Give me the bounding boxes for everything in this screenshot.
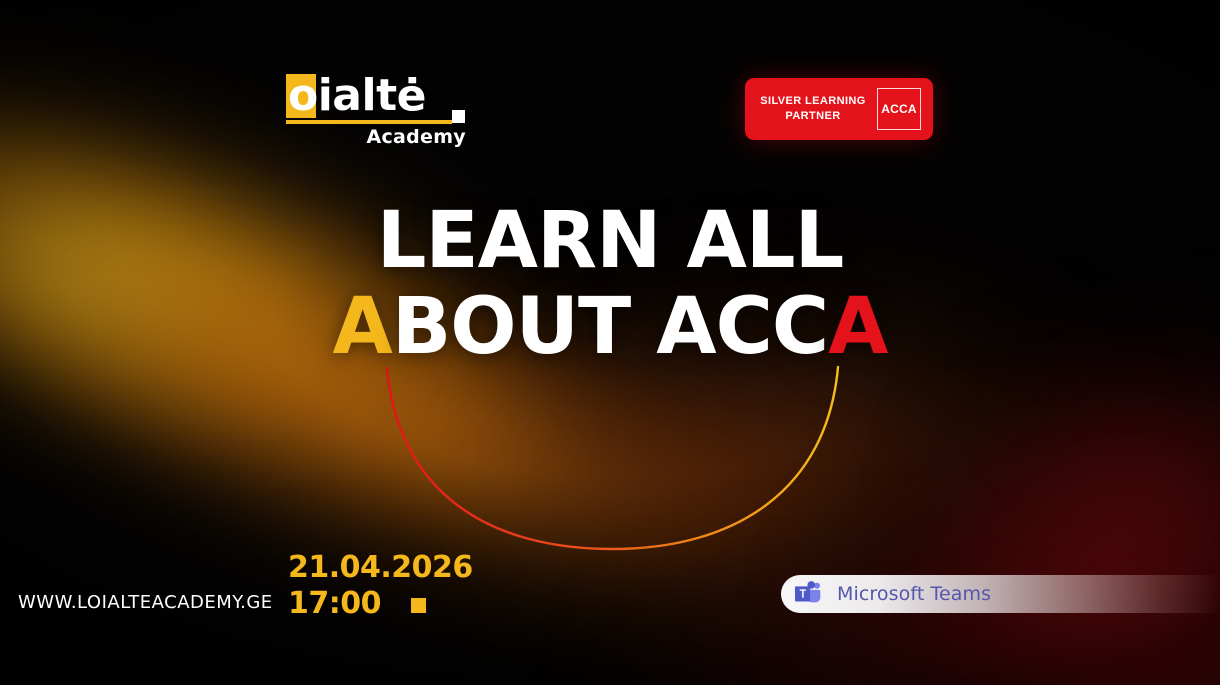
headline-gold-a: A [332, 282, 391, 372]
platform-badge-microsoft-teams[interactable]: Microsoft Teams [781, 575, 1220, 613]
logo-square-dot-icon [452, 110, 465, 123]
logo-subtitle: Academy [366, 126, 466, 148]
logo-wordmark: oialtė [286, 74, 466, 120]
headline: LEARN ALL ABOUT ACCA [0, 198, 1220, 370]
event-schedule: 21.04.2026 17:00 [288, 550, 473, 622]
brand-logo[interactable]: oialtė Academy [286, 74, 466, 144]
website-url[interactable]: WWW.LOIALTEACADEMY.GE [18, 592, 273, 613]
acca-mark: ACCA [877, 88, 921, 130]
badge-text-block: SILVER LEARNING PARTNER [745, 94, 877, 124]
acca-partner-badge[interactable]: SILVER LEARNING PARTNER ACCA [745, 78, 933, 140]
headline-line-2: ABOUT ACCA [0, 284, 1220, 370]
badge-line-2: PARTNER [785, 110, 840, 122]
event-time: 17:00 [288, 586, 473, 622]
microsoft-teams-icon [795, 581, 823, 607]
poster-canvas: oialtė Academy SILVER LEARNING PARTNER A… [0, 0, 1220, 685]
accent-square-decor [411, 598, 426, 613]
headline-white-text: BOUT ACC [392, 282, 828, 372]
headline-red-a: A [828, 282, 887, 372]
platform-label: Microsoft Teams [837, 583, 991, 605]
logo-word-text: oialtė [286, 74, 426, 118]
badge-line-1: SILVER LEARNING [760, 95, 865, 107]
event-date: 21.04.2026 [288, 550, 473, 586]
headline-line-1: LEARN ALL [0, 198, 1220, 284]
